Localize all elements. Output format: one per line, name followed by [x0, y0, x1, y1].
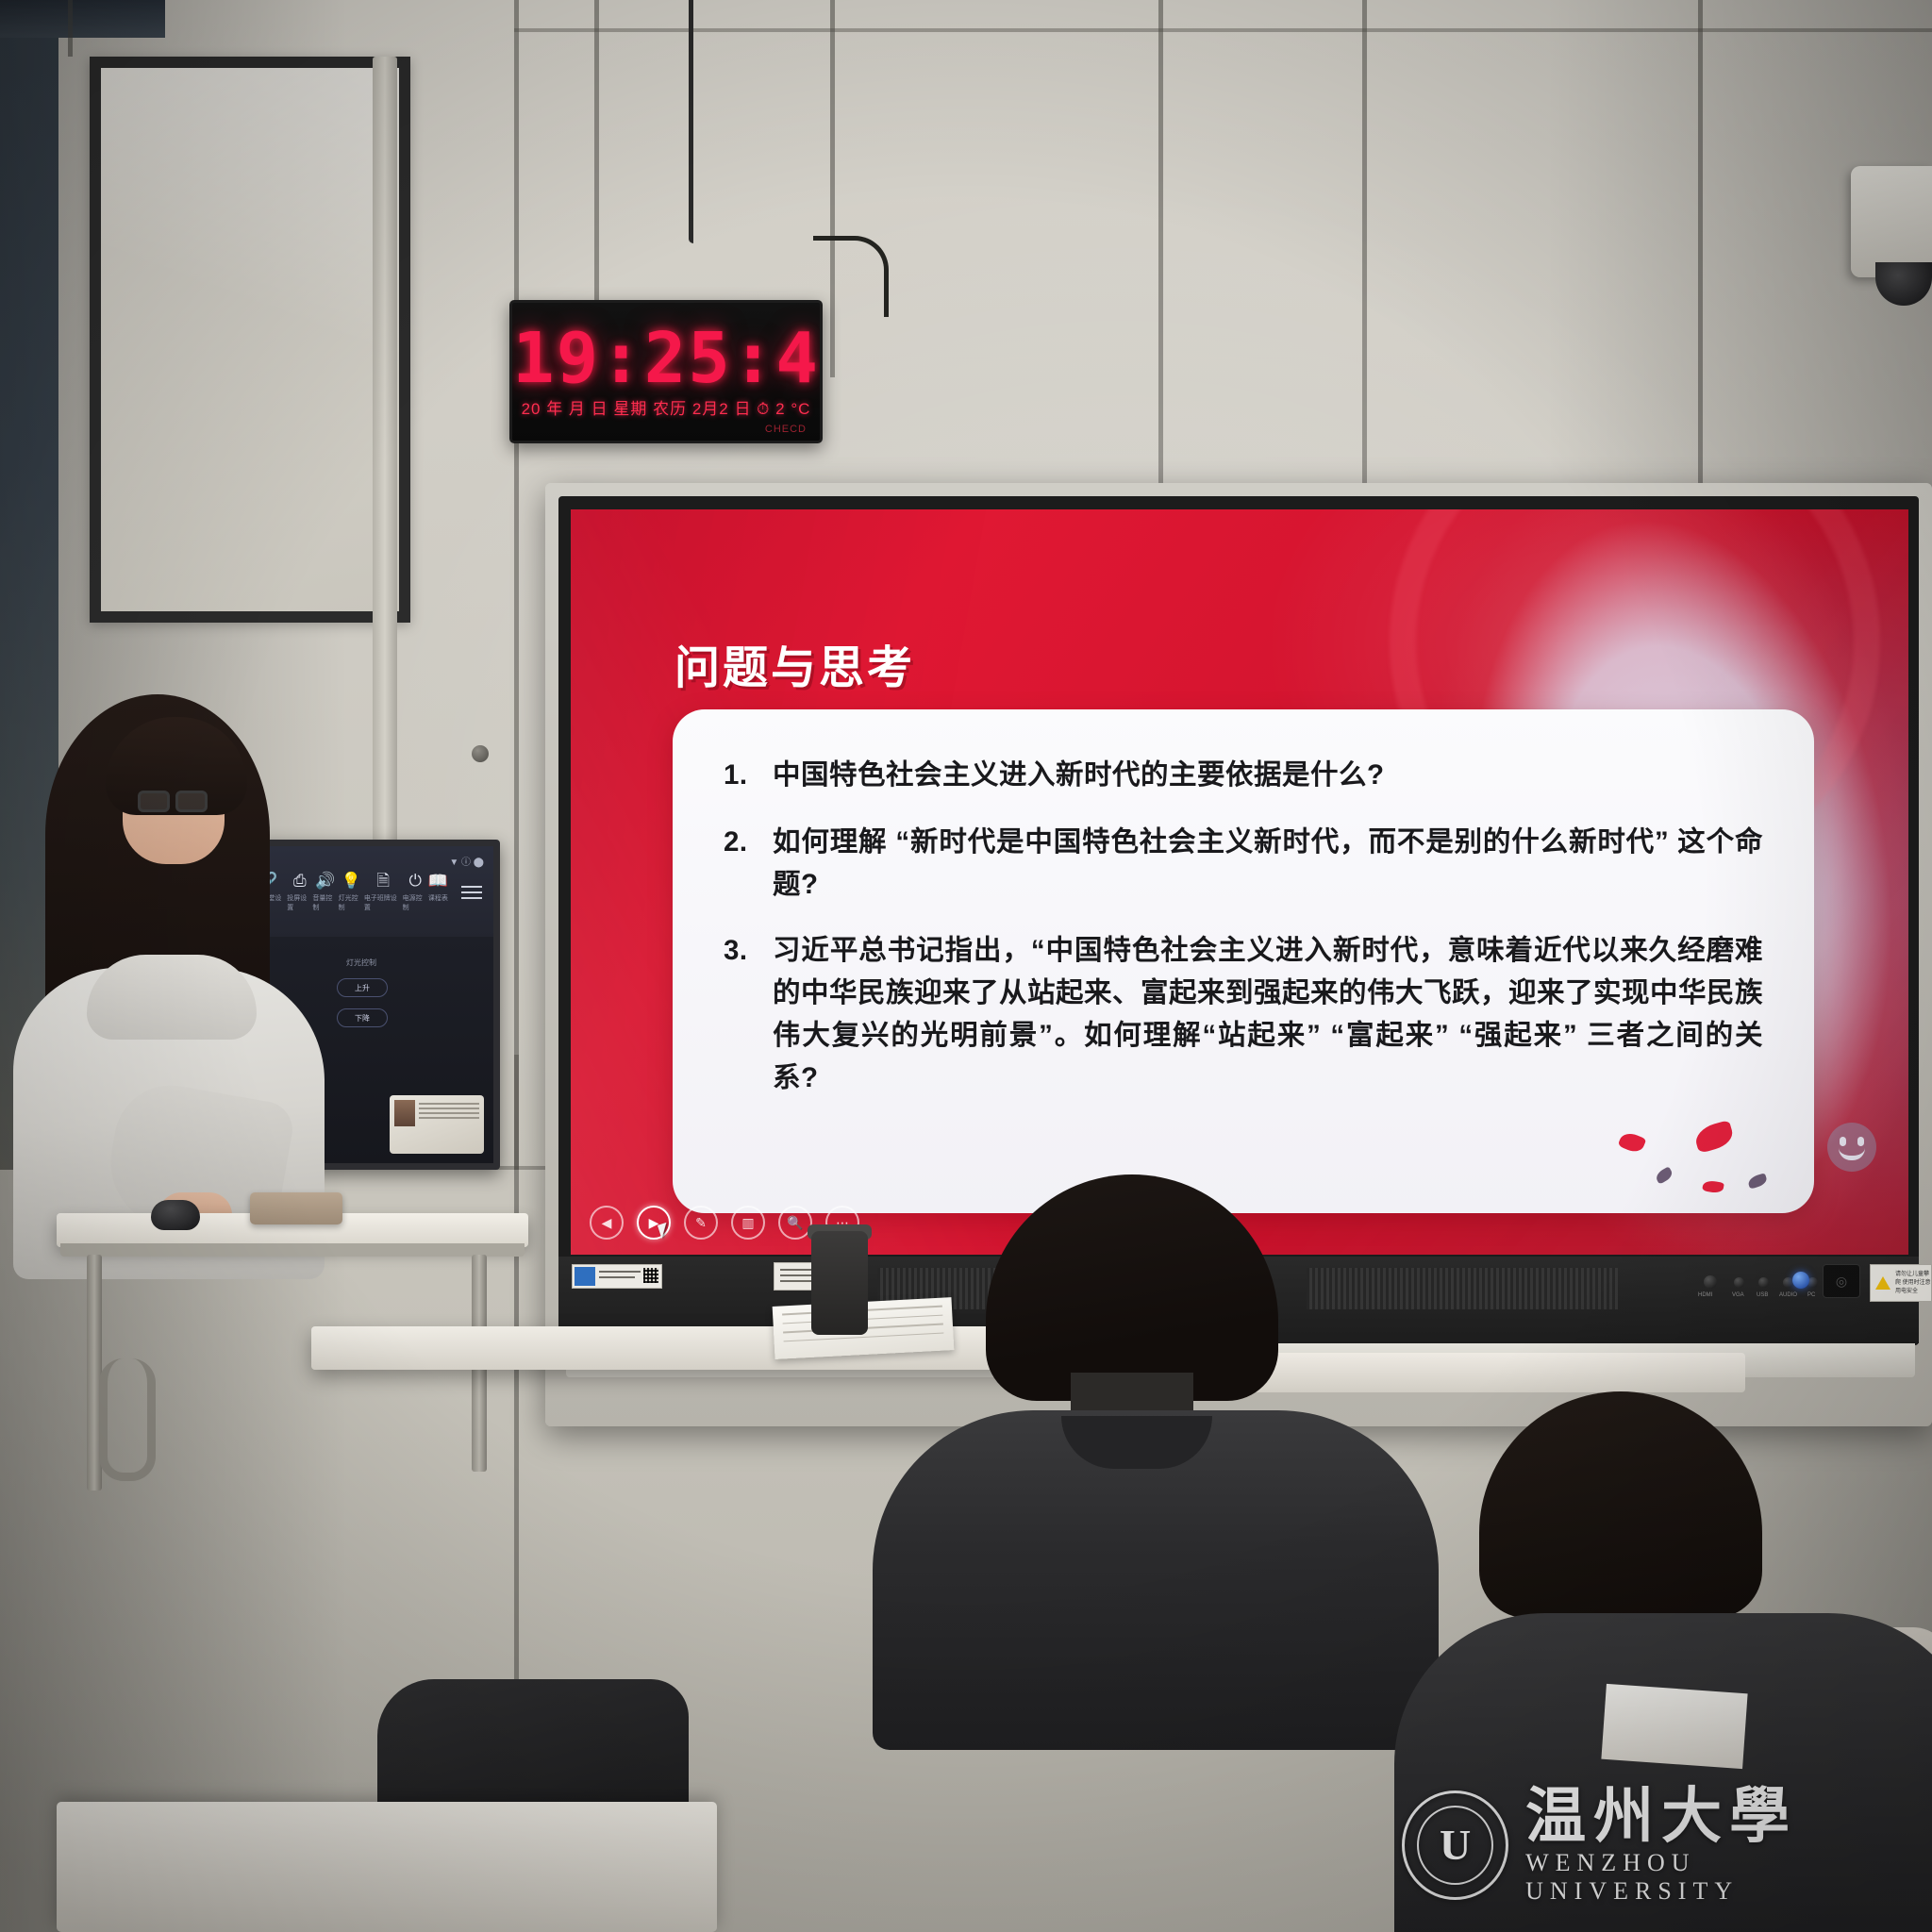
clock-cable	[813, 236, 889, 317]
ir-receiver: ◎	[1823, 1264, 1860, 1298]
item-text: 中国特色社会主义进入新时代的主要依据是什么?	[773, 755, 1763, 797]
dome-camera	[1851, 166, 1932, 277]
power-icon[interactable]: ⏻ 电源控制	[403, 873, 428, 912]
power-led[interactable]	[1792, 1272, 1809, 1289]
wifi-status-icon: ▼ ⓘ ⬤	[449, 854, 484, 868]
toolbar-label: 电源控制	[403, 893, 428, 912]
warning-triangle-icon	[1875, 1276, 1890, 1290]
id-fields	[419, 1100, 479, 1149]
usb-port[interactable]	[1758, 1277, 1769, 1288]
teacher-person	[0, 685, 340, 1270]
section-label: 灯光控制	[346, 958, 376, 968]
classroom-photo: 19:25:4 20 年 月 日 星期 农历 2月2 日 ⏱ 2 °C CHEC…	[0, 0, 1932, 1932]
student-person	[910, 1174, 1401, 1712]
certification-sticker	[572, 1264, 662, 1289]
university-name: 温州大學 WENZHOU UNIVERSITY	[1525, 1785, 1911, 1905]
port-label: PC	[1807, 1292, 1815, 1298]
sticker-logo	[575, 1267, 595, 1286]
item-number: 3.	[724, 930, 756, 1099]
layout-icon[interactable]: ▥	[731, 1206, 765, 1240]
thermos-cup	[811, 1231, 868, 1335]
chair	[99, 1358, 156, 1481]
question-list: 1. 中国特色社会主义进入新时代的主要依据是什么? 2. 如何理解 “新时代是中…	[724, 755, 1763, 1100]
port-label: HDMI	[1698, 1292, 1712, 1298]
university-watermark: U 温州大學 WENZHOU UNIVERSITY	[1402, 1770, 1911, 1921]
port-label: VGA	[1732, 1292, 1744, 1298]
item-text: 习近平总书记指出，“中国特色社会主义进入新时代，意味着近代以来久经磨难的中华民族…	[773, 930, 1763, 1099]
toolbar-label: 课程表	[428, 893, 448, 903]
clock-time: 19:25:4	[512, 318, 820, 399]
university-seal-icon: U	[1402, 1790, 1508, 1900]
front-desk	[57, 1802, 717, 1932]
eyeglasses	[138, 791, 170, 812]
hamburger-menu-icon[interactable]	[461, 882, 482, 903]
item-number: 2.	[724, 822, 756, 907]
light-icon[interactable]: 💡 灯光控制	[339, 873, 364, 912]
page-icon[interactable]: 🗎 电子班牌设置	[364, 873, 403, 912]
hdmi-port[interactable]	[1704, 1275, 1717, 1289]
hair	[1479, 1391, 1762, 1618]
smiley-icon	[1827, 1123, 1876, 1172]
seal-letter: U	[1440, 1824, 1471, 1867]
sticker-line	[599, 1271, 641, 1273]
warning-text: 请勿让儿童攀爬 使用时注意用电安全	[1895, 1271, 1931, 1296]
eyeglasses	[175, 791, 208, 812]
id-photo	[394, 1100, 415, 1126]
pen-icon[interactable]: ✎	[684, 1206, 718, 1240]
toolbar-label: 灯光控制	[339, 893, 364, 912]
desk-edge	[60, 1243, 525, 1257]
university-name-cn: 温州大學	[1525, 1785, 1911, 1848]
list-item: 1. 中国特色社会主义进入新时代的主要依据是什么?	[724, 755, 1763, 797]
computer-mouse[interactable]	[151, 1200, 200, 1230]
vga-port[interactable]	[1734, 1277, 1744, 1288]
port-label: AUDIO	[1779, 1292, 1797, 1298]
university-name-en: WENZHOU UNIVERSITY	[1525, 1849, 1911, 1906]
qr-code-icon	[643, 1268, 658, 1283]
slide-title: 问题与思考	[675, 630, 915, 696]
wall-whiteboard-panel	[90, 57, 410, 623]
list-item: 3. 习近平总书记指出，“中国特色社会主义进入新时代，意味着近代以来久经磨难的中…	[724, 930, 1763, 1099]
ceiling-cable	[689, 0, 693, 243]
light-down-button[interactable]: 下降	[337, 1008, 388, 1027]
hair	[986, 1174, 1278, 1401]
hood	[87, 955, 257, 1040]
toolbar-label: 电子班牌设置	[364, 893, 403, 912]
list-item: 2. 如何理解 “新时代是中国特色社会主义新时代，而不是别的什么新时代” 这个命…	[724, 822, 1763, 907]
id-card-preview	[390, 1095, 484, 1154]
presentation-screen[interactable]: 问题与思考 1. 中国特色社会主义进入新时代的主要依据是什么? 2. 如何理解 …	[571, 509, 1908, 1255]
paper-sheet	[1601, 1684, 1747, 1769]
light-up-button[interactable]: 上升	[337, 978, 388, 997]
previous-slide-icon[interactable]: ◀	[590, 1206, 624, 1240]
port-label: USB	[1757, 1292, 1768, 1298]
item-text: 如何理解 “新时代是中国特色社会主义新时代，而不是别的什么新时代” 这个命题?	[773, 822, 1763, 907]
warning-sticker: 请勿让儿童攀爬 使用时注意用电安全	[1870, 1264, 1932, 1302]
sticker-line	[599, 1276, 635, 1278]
book-icon[interactable]: 📖 课程表	[428, 873, 448, 912]
clock-date: 20 年 月 日 星期 农历 2月2 日 ⏱ 2 °C	[512, 395, 820, 419]
whiteboard-knob[interactable]	[472, 745, 489, 762]
item-number: 1.	[724, 755, 756, 797]
led-wall-clock: 19:25:4 20 年 月 日 星期 农历 2月2 日 ⏱ 2 °C CHEC…	[509, 300, 823, 443]
clock-brand: CHECD	[765, 424, 807, 435]
mouse-pad	[250, 1192, 342, 1224]
